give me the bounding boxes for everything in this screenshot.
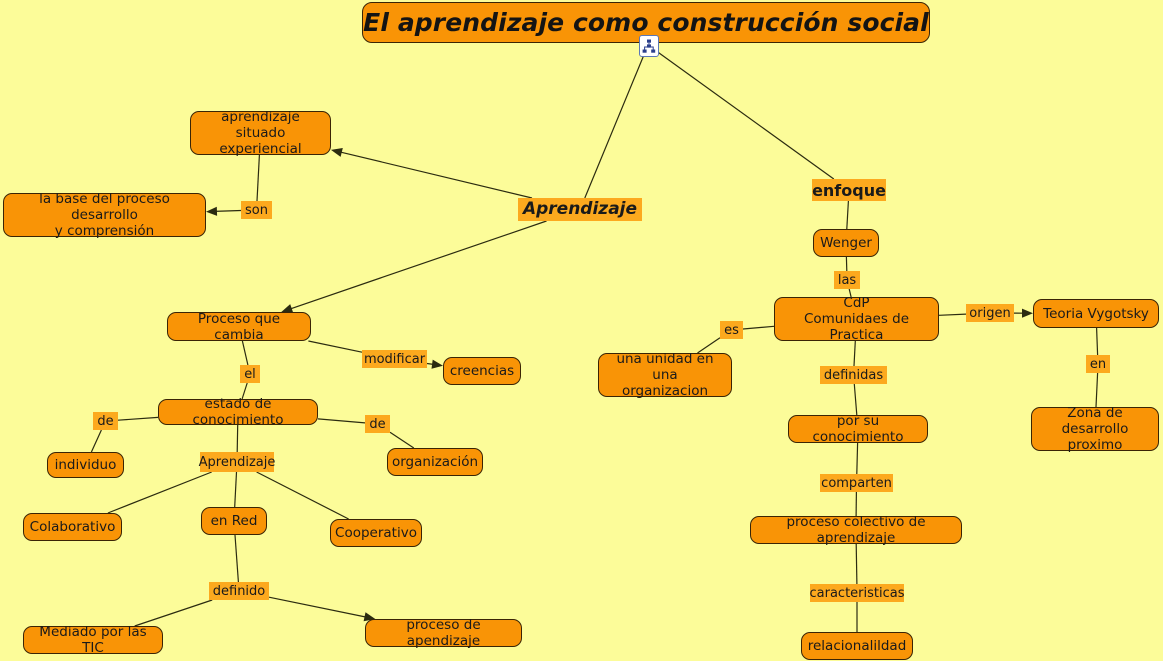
concept-node-zona_desarrollo[interactable]: Zona de desarrollo proximo xyxy=(1031,407,1159,451)
arrowhead xyxy=(432,360,444,369)
concept-node-por_su_conocimiento[interactable]: por su conocimiento xyxy=(788,415,928,443)
edge-cdp-to-es xyxy=(743,326,774,329)
concept-node-organizacion[interactable]: organización xyxy=(387,448,483,476)
link-label-comparten[interactable]: comparten xyxy=(820,474,893,492)
concept-node-cooperativo[interactable]: Cooperativo xyxy=(330,519,422,547)
hierarchy-icon[interactable] xyxy=(639,35,659,57)
edge-en_red-to-definido xyxy=(235,535,238,582)
concept-node-base_proceso[interactable]: la base del proceso desarrollo y compren… xyxy=(3,193,206,237)
concept-node-aprendizaje_main[interactable]: Aprendizaje xyxy=(518,198,642,221)
concept-node-en_red[interactable]: en Red xyxy=(201,507,267,535)
link-label-modificar[interactable]: modificar xyxy=(362,350,427,368)
edge-proceso_colectivo-to-caracteristicas xyxy=(856,544,857,584)
concept-node-proceso_que_cambia[interactable]: Proceso que cambia xyxy=(167,312,311,341)
concept-map-canvas: El aprendizaje como construcción social … xyxy=(0,0,1163,661)
concept-node-wenger[interactable]: Wenger xyxy=(813,229,879,257)
concept-node-teoria_vygotsky[interactable]: Teoria Vygotsky xyxy=(1033,299,1159,328)
edge-enfoque-to-wenger xyxy=(847,201,849,229)
edge-proceso_que_cambia-to-modificar xyxy=(308,341,362,352)
edge-aprendizaje_sub-to-en_red xyxy=(235,472,237,507)
edge-aprendizaje_main-to-aprendizaje_situado xyxy=(331,148,532,198)
link-label-en[interactable]: en xyxy=(1086,355,1110,373)
concept-node-individuo[interactable]: individuo xyxy=(47,452,124,478)
link-label-definidas[interactable]: definidas xyxy=(820,366,887,384)
concept-node-creencias[interactable]: creencias xyxy=(443,357,521,385)
edge-son-to-base_proceso xyxy=(206,207,241,216)
link-label-de_individuo[interactable]: de xyxy=(93,412,118,430)
concept-node-proceso_colectivo[interactable]: proceso colectivo de aprendizaje xyxy=(750,516,962,544)
edge-proceso_que_cambia-to-el xyxy=(242,341,248,365)
edge-title-icon-to-enfoque xyxy=(657,52,834,180)
edge-cdp-to-origen xyxy=(939,314,966,315)
edge-teoria_vygotsky-to-en xyxy=(1097,328,1098,355)
concept-node-proceso_apendizaje[interactable]: proceso de apendizaje xyxy=(365,619,522,647)
arrowhead xyxy=(331,148,343,157)
edge-title-icon-to-aprendizaje_main xyxy=(585,55,644,198)
edge-de_individuo-to-individuo xyxy=(91,430,101,452)
link-label-el[interactable]: el xyxy=(240,365,260,383)
link-label-caracteristicas[interactable]: caracteristicas xyxy=(810,584,904,602)
edge-definido-to-mediado_tic xyxy=(135,600,213,626)
link-label-de_organizacion[interactable]: de xyxy=(365,415,390,433)
edge-aprendizaje_sub-to-cooperativo xyxy=(257,472,349,519)
edge-modificar-to-creencias xyxy=(427,360,443,369)
edge-en-to-zona_desarrollo xyxy=(1096,373,1098,407)
concept-node-mediado_tic[interactable]: Mediado por las TIC xyxy=(23,626,163,654)
concept-node-aprendizaje_sub[interactable]: Aprendizaje xyxy=(200,452,274,472)
concept-node-enfoque[interactable]: enfoque xyxy=(812,179,886,201)
edge-aprendizaje_situado-to-son xyxy=(257,155,259,201)
concept-node-estado_conocimiento[interactable]: estado de conocimiento xyxy=(158,399,318,425)
edge-por_su_conocimiento-to-comparten xyxy=(857,443,858,474)
arrowhead xyxy=(206,207,217,216)
edge-estado_conocimiento-to-aprendizaje_sub xyxy=(237,425,238,452)
edge-cdp-to-definidas xyxy=(854,341,855,366)
concept-node-relacionalildad[interactable]: relacionalildad xyxy=(801,632,913,660)
arrowhead xyxy=(1022,309,1033,318)
edge-estado_conocimiento-to-de_organizacion xyxy=(318,419,365,423)
edge-definidas-to-por_su_conocimiento xyxy=(854,384,857,415)
edge-de_organizacion-to-organizacion xyxy=(390,432,414,448)
edge-aprendizaje_main-to-proceso_que_cambia xyxy=(281,221,546,313)
concept-node-aprendizaje_situado[interactable]: aprendizaje situado experiencial xyxy=(190,111,331,155)
concept-node-unidad_organizacion[interactable]: una unidad en una organizacion xyxy=(598,353,732,397)
edge-estado_conocimiento-to-de_individuo xyxy=(118,417,158,420)
concept-node-cdp[interactable]: CdP Comunidaes de Practica xyxy=(774,297,939,341)
edge-definido-to-proceso_apendizaje xyxy=(269,597,375,621)
edge-aprendizaje_sub-to-colaborativo xyxy=(108,472,212,513)
concept-node-colaborativo[interactable]: Colaborativo xyxy=(23,513,122,541)
link-label-definido[interactable]: definido xyxy=(209,582,269,600)
link-label-es[interactable]: es xyxy=(720,321,743,339)
edge-origen-to-teoria_vygotsky xyxy=(1014,309,1033,318)
link-label-las[interactable]: las xyxy=(834,271,860,289)
link-label-origen[interactable]: origen xyxy=(966,304,1014,322)
hierarchy-icon-glyph xyxy=(642,39,656,54)
link-label-son[interactable]: son xyxy=(241,201,272,219)
